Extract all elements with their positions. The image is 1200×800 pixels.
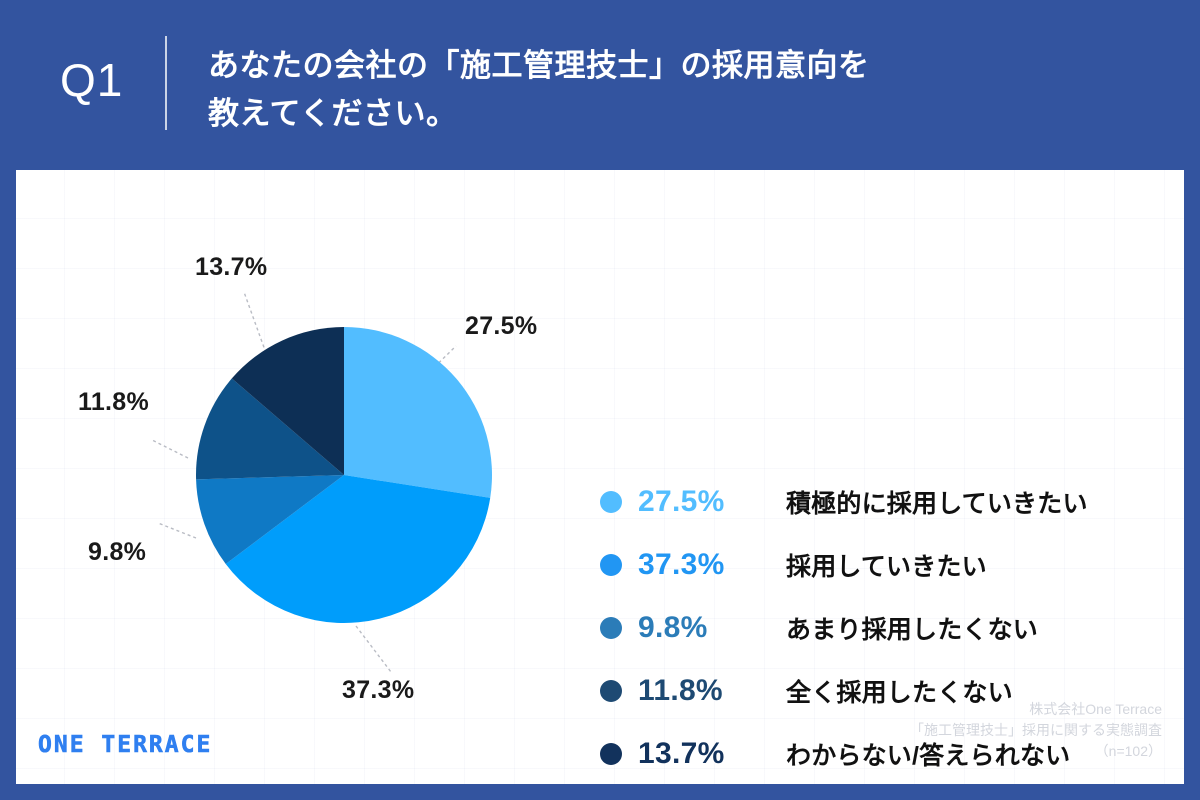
legend-swatch-icon-2 (600, 617, 622, 639)
pie-chart: 27.5% 37.3% 9.8% 11.8% 13.7% (16, 170, 616, 730)
legend-label-2: あまり採用したくない (786, 610, 1038, 646)
one-terrace-logo: ONE TERRACE (38, 732, 238, 766)
question-header: Q1 あなたの会社の「施工管理技士」の採用意向を 教えてください。 (0, 0, 1200, 170)
pie-chart-svg (16, 170, 616, 730)
pie-slice-0[interactable] (344, 327, 492, 498)
callout-value-4: 13.7% (195, 253, 267, 282)
callout-value-0: 27.5% (465, 312, 537, 341)
chart-card: 27.5% 37.3% 9.8% 11.8% 13.7% 27.5% 積極的に採… (16, 170, 1184, 784)
legend-percent-2: 9.8% (638, 611, 786, 645)
legend-label-1: 採用していきたい (786, 547, 987, 583)
header-divider (165, 36, 167, 130)
source-company: 株式会社One Terrace (910, 699, 1162, 720)
legend-label-0: 積極的に採用していきたい (786, 484, 1088, 520)
legend-swatch-icon-0 (600, 491, 622, 513)
callout-value-2: 9.8% (88, 538, 146, 567)
legend-swatch-icon-4 (600, 743, 622, 765)
legend-item-1[interactable]: 37.3% 採用していきたい (600, 533, 1180, 596)
question-title: あなたの会社の「施工管理技士」の採用意向を 教えてください。 (208, 42, 1158, 138)
legend-swatch-icon-1 (600, 554, 622, 576)
callout-value-1: 37.3% (342, 676, 414, 705)
legend-percent-1: 37.3% (638, 548, 786, 582)
source-survey: 「施工管理技士」採用に関する実態調査 (910, 720, 1162, 741)
question-number: Q1 (60, 50, 123, 110)
legend-item-2[interactable]: 9.8% あまり採用したくない (600, 596, 1180, 659)
callout-value-3: 11.8% (78, 388, 149, 417)
source-sample-size: （n=102） (910, 741, 1162, 762)
legend-percent-3: 11.8% (638, 674, 786, 708)
legend-item-0[interactable]: 27.5% 積極的に採用していきたい (600, 470, 1180, 533)
legend-swatch-icon-3 (600, 680, 622, 702)
source-note: 株式会社One Terrace 「施工管理技士」採用に関する実態調査 （n=10… (910, 699, 1162, 762)
logo-text: ONE TERRACE (38, 732, 212, 758)
pie-slices (196, 327, 492, 623)
legend-percent-4: 13.7% (638, 737, 786, 771)
legend-percent-0: 27.5% (638, 485, 786, 519)
